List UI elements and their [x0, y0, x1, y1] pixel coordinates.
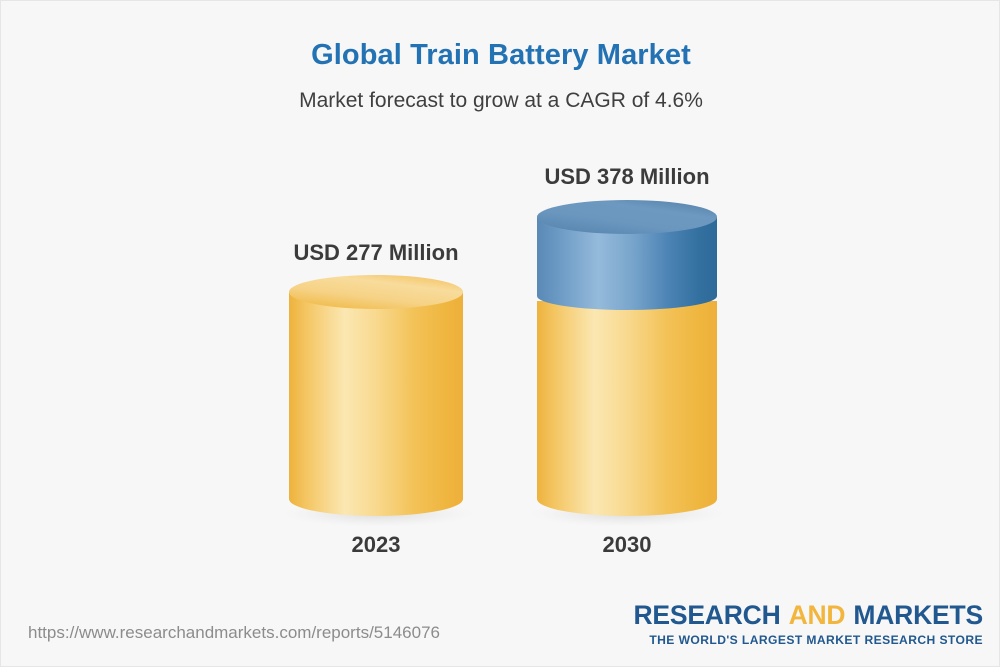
bar-2023	[283, 275, 475, 527]
logo-word-and: AND	[789, 600, 846, 630]
bar-chart-graphic	[1, 1, 1000, 667]
bar-2030-value-label: USD 378 Million	[507, 164, 747, 190]
bar-2023-value-label: USD 277 Million	[256, 240, 496, 266]
bar-2023-top-cap	[289, 275, 463, 309]
bar-2030-base-body	[537, 301, 717, 516]
logo-tagline: THE WORLD'S LARGEST MARKET RESEARCH STOR…	[633, 634, 983, 646]
infographic-canvas: Global Train Battery Market Market forec…	[0, 0, 1000, 667]
bar-2030-category-label: 2030	[507, 532, 747, 558]
logo-word-markets: MARKETS	[853, 600, 983, 630]
bar-2023-body	[289, 292, 463, 516]
research-and-markets-logo[interactable]: RESEARCHANDMARKETS THE WORLD'S LARGEST M…	[633, 602, 983, 646]
bar-2030	[529, 200, 725, 527]
logo-wordmark: RESEARCHANDMARKETS	[633, 602, 983, 629]
logo-word-research: RESEARCH	[633, 600, 780, 630]
source-url[interactable]: https://www.researchandmarkets.com/repor…	[28, 623, 440, 643]
bar-2023-category-label: 2023	[256, 532, 496, 558]
bar-2030-top-cap	[537, 200, 717, 234]
